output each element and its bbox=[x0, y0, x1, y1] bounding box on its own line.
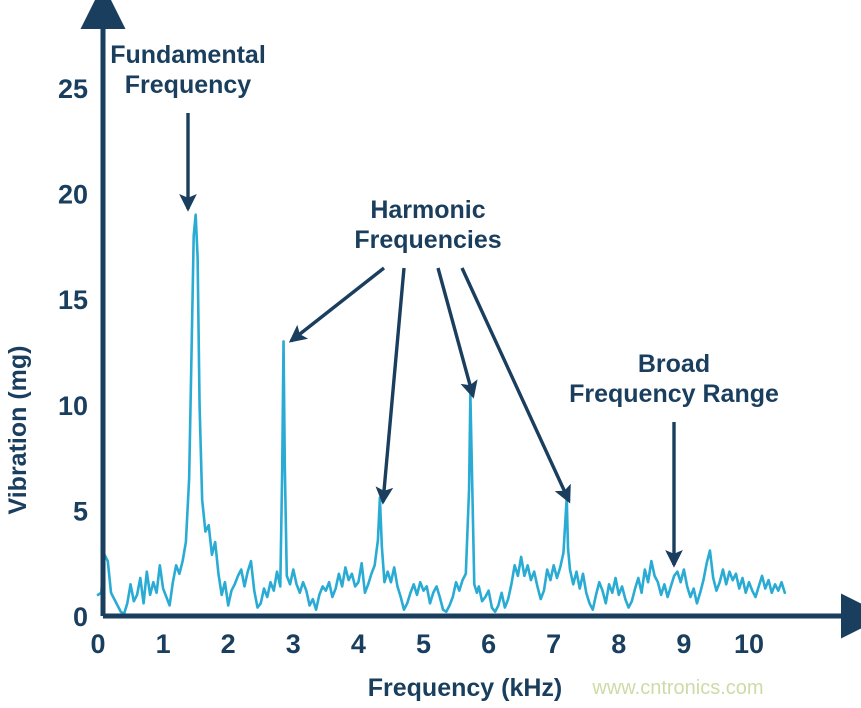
annotation-arrow-harmonic bbox=[291, 268, 384, 341]
y-tick-label: 15 bbox=[58, 285, 88, 315]
axes bbox=[103, 24, 846, 616]
x-tick-label: 6 bbox=[481, 629, 496, 659]
annotation-label-harmonic: HarmonicFrequencies bbox=[354, 196, 501, 254]
x-tick-label: 8 bbox=[611, 629, 626, 659]
x-tick-label: 4 bbox=[351, 629, 366, 659]
y-axis-title: Vibration (mg) bbox=[4, 346, 32, 515]
x-tick-label: 1 bbox=[156, 629, 171, 659]
annotations: FundamentalFrequencyHarmonicFrequenciesB… bbox=[110, 41, 779, 565]
x-tick-label: 9 bbox=[676, 629, 691, 659]
y-tick-label: 20 bbox=[58, 180, 88, 210]
x-tick-label: 0 bbox=[90, 629, 105, 659]
chart-canvas: 012345678910 0510152025 Frequency (kHz) … bbox=[0, 0, 861, 708]
y-tick-label: 0 bbox=[73, 602, 88, 632]
annotation-broad-range: BroadFrequency Range bbox=[569, 350, 779, 565]
y-tick-label: 25 bbox=[58, 74, 88, 104]
x-tick-label: 10 bbox=[734, 629, 764, 659]
annotation-arrow-harmonic bbox=[462, 268, 569, 501]
annotation-harmonic: HarmonicFrequencies bbox=[291, 196, 569, 502]
watermark-label: www.cntronics.com bbox=[591, 677, 763, 699]
annotation-fundamental: FundamentalFrequency bbox=[110, 41, 266, 209]
vibration-spectrum-figure: 012345678910 0510152025 Frequency (kHz) … bbox=[0, 0, 861, 708]
x-tick-labels: 012345678910 bbox=[90, 629, 764, 659]
x-tick-label: 7 bbox=[546, 629, 561, 659]
annotation-arrow-harmonic bbox=[383, 268, 404, 502]
x-tick-label: 2 bbox=[221, 629, 236, 659]
y-tick-labels: 0510152025 bbox=[58, 74, 88, 632]
x-tick-label: 5 bbox=[416, 629, 431, 659]
y-tick-label: 5 bbox=[73, 496, 88, 526]
y-tick-label: 10 bbox=[58, 391, 88, 421]
annotation-label-broad-range: BroadFrequency Range bbox=[569, 350, 779, 408]
annotation-label-fundamental: FundamentalFrequency bbox=[110, 41, 266, 99]
annotation-arrow-harmonic bbox=[438, 268, 473, 396]
x-tick-label: 3 bbox=[286, 629, 301, 659]
x-axis-title: Frequency (kHz) bbox=[368, 674, 562, 702]
